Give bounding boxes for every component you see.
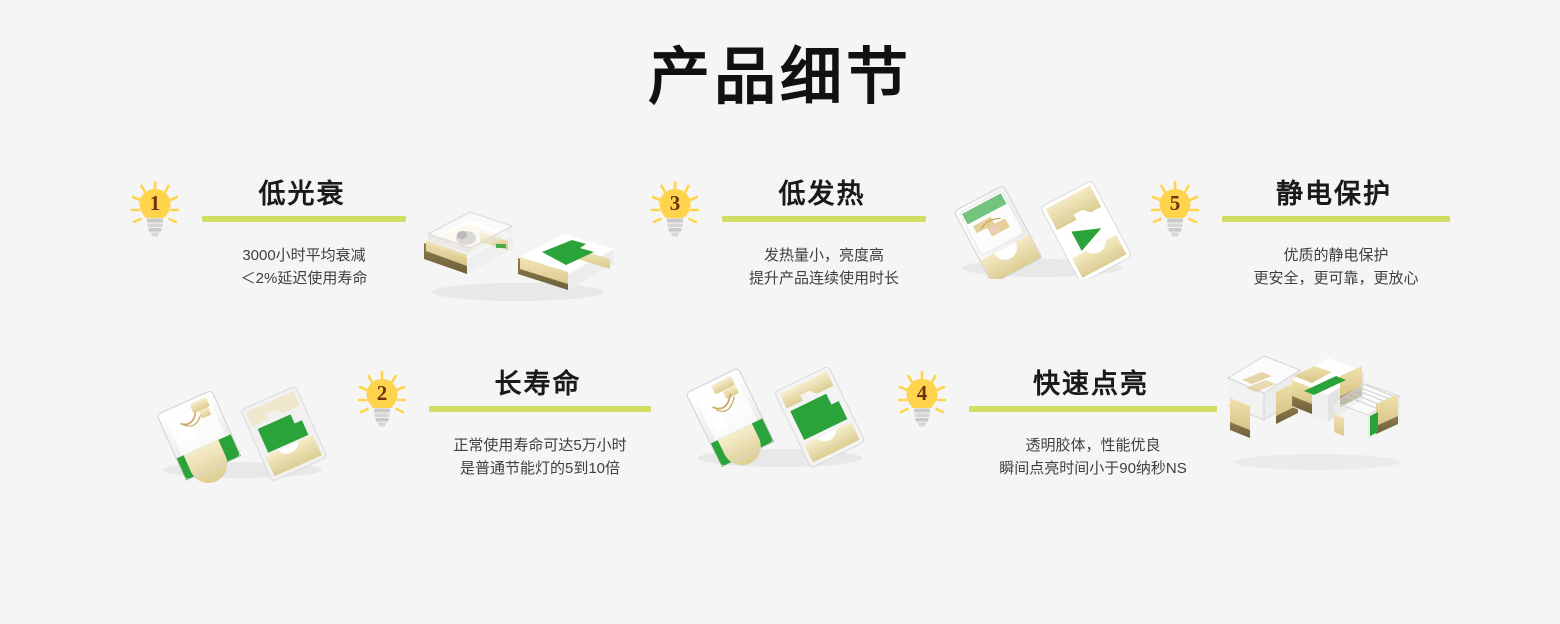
- feature-description-line-1: 正常使用寿命可达5万小时: [429, 434, 651, 457]
- feature-block-2: 2 长寿命 正常使用寿命可达5万小时 是普通节能灯的5到10倍: [355, 368, 651, 480]
- feature-title: 快速点亮: [969, 368, 1213, 400]
- lightbulb-icon: 3: [648, 180, 702, 242]
- feature-description: 优质的静电保护 更安全，更可靠，更放心: [1222, 244, 1450, 290]
- feature-description-line-1: 透明胶体，性能优良: [969, 434, 1217, 457]
- feature-description: 3000小时平均衰减 ＜2%延迟使用寿命: [202, 244, 406, 290]
- lightbulb-icon: 5: [1148, 180, 1202, 242]
- feature-title: 静电保护: [1222, 178, 1446, 210]
- led-product-image-4: [685, 352, 875, 470]
- feature-description-line-2: 提升产品连续使用时长: [722, 267, 926, 290]
- feature-title: 低发热: [722, 178, 922, 210]
- led-product-image-2: [950, 164, 1135, 279]
- feature-description-line-2: ＜2%延迟使用寿命: [202, 267, 406, 290]
- feature-block-3: 3 低发热 发热量小，亮度高 提升产品连续使用时长: [648, 178, 926, 290]
- accent-underline: [969, 406, 1217, 412]
- feature-description-line-1: 3000小时平均衰减: [202, 244, 406, 267]
- feature-block-5: 5 静电保护 优质的静电保护 更安全，更可靠，更放心: [1148, 178, 1450, 290]
- accent-underline: [1222, 216, 1450, 222]
- feature-block-1: 1 低光衰 3000小时平均衰减 ＜2%延迟使用寿命: [128, 178, 406, 290]
- feature-description-line-2: 是普通节能灯的5到10倍: [429, 457, 651, 480]
- lightbulb-icon: 2: [355, 370, 409, 432]
- led-product-image-5: [1220, 348, 1415, 473]
- feature-description-line-1: 发热量小，亮度高: [722, 244, 926, 267]
- feature-description: 发热量小，亮度高 提升产品连续使用时长: [722, 244, 926, 290]
- feature-block-4: 4 快速点亮 透明胶体，性能优良 瞬间点亮时间小于90纳秒NS: [895, 368, 1217, 480]
- accent-underline: [722, 216, 926, 222]
- feature-description: 正常使用寿命可达5万小时 是普通节能灯的5到10倍: [429, 434, 651, 480]
- feature-description-line-1: 优质的静电保护: [1222, 244, 1450, 267]
- product-detail-page: 产品细节 1: [0, 0, 1560, 624]
- lightbulb-icon: 4: [895, 370, 949, 432]
- accent-underline: [429, 406, 651, 412]
- feature-description: 透明胶体，性能优良 瞬间点亮时间小于90纳秒NS: [969, 434, 1217, 480]
- feature-description-line-2: 更安全，更可靠，更放心: [1222, 267, 1450, 290]
- lightbulb-icon: 1: [128, 180, 182, 242]
- page-title: 产品细节: [0, 42, 1560, 114]
- feature-title: 长寿命: [429, 368, 647, 400]
- led-product-image-3: [150, 368, 335, 483]
- feature-description-line-2: 瞬间点亮时间小于90纳秒NS: [969, 457, 1217, 480]
- feature-title: 低光衰: [202, 178, 402, 210]
- led-product-image-1: [418, 188, 623, 303]
- accent-underline: [202, 216, 406, 222]
